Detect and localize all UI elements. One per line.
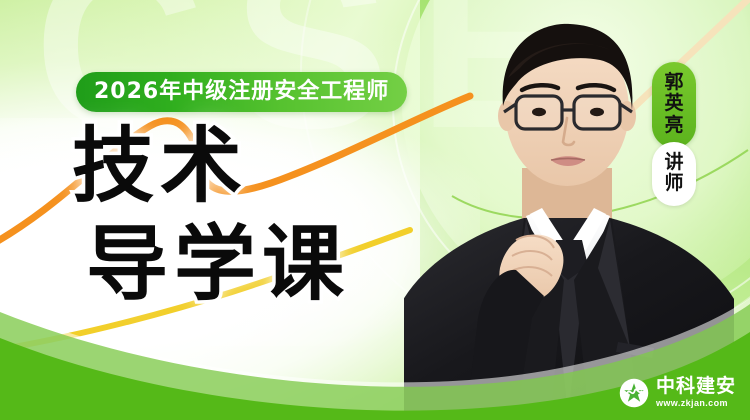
brand-name: 中科建安	[656, 377, 736, 396]
brand-logo: 中科建安 www.zkjan.com	[619, 377, 736, 408]
brand-logo-text: 中科建安 www.zkjan.com	[656, 377, 736, 408]
instructor-role-pill: 讲 师	[652, 142, 696, 207]
brand-url: www.zkjan.com	[656, 399, 736, 408]
instructor-name-char-3: 亮	[664, 115, 683, 136]
course-badge: 2026年中级注册安全工程师	[76, 72, 407, 112]
course-badge-label: 2026年中级注册安全工程师	[94, 81, 389, 103]
instructor-role-char-2: 师	[664, 173, 683, 194]
instructor-label: 郭 英 亮 讲 师	[652, 62, 696, 206]
headline-line-2: 导学课	[86, 226, 350, 304]
instructor-role-char-1: 讲	[664, 152, 683, 173]
course-poster: CSE 2026年中级注册安全工程师 技术 导学课	[0, 0, 750, 420]
circle-star-logo-icon	[619, 378, 649, 408]
instructor-name-pill: 郭 英 亮	[652, 62, 696, 148]
page-title: 技术 导学课	[72, 128, 350, 304]
headline-line-1: 技术	[72, 128, 350, 206]
instructor-name-char-2: 英	[664, 93, 683, 114]
instructor-name-char-1: 郭	[664, 72, 683, 93]
